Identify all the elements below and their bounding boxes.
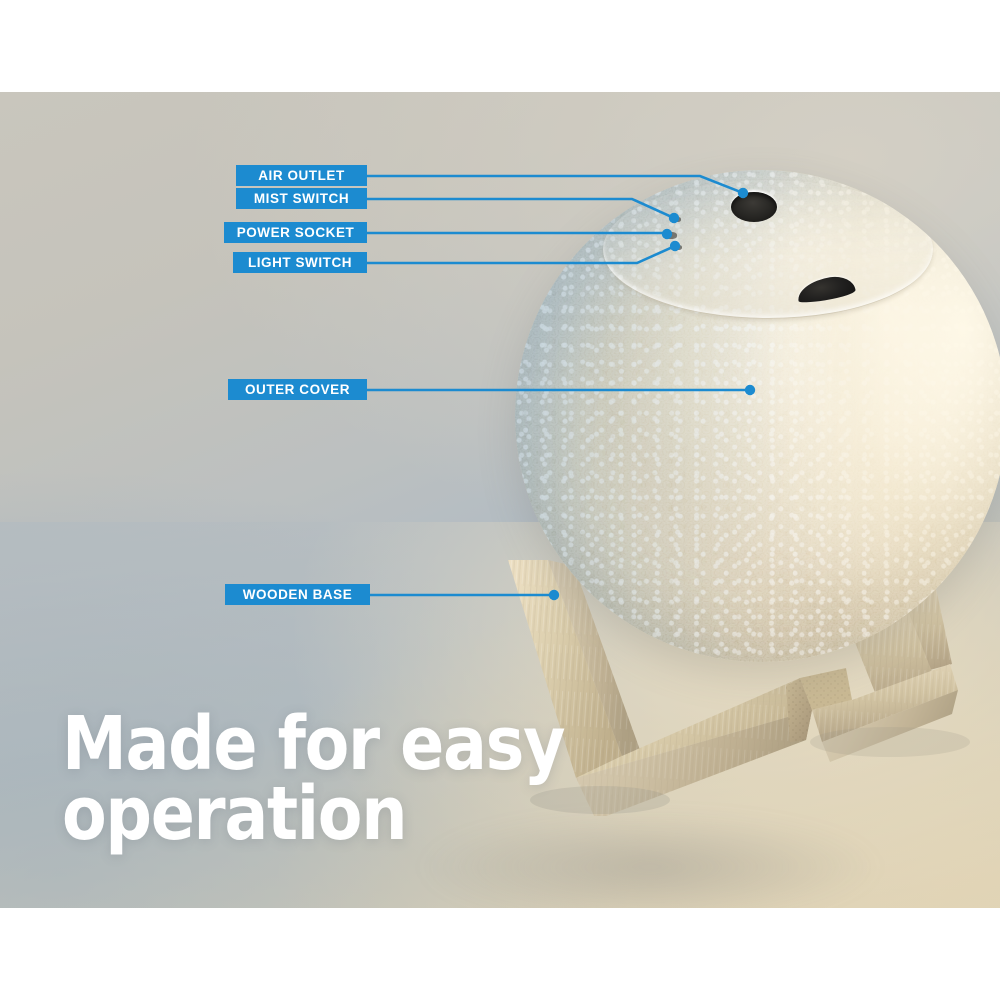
headline-line-2: operation (62, 779, 564, 849)
leader-dot-light-switch (670, 241, 680, 251)
headline: Made for easy operation (62, 709, 564, 850)
leader-dot-wooden-base (549, 590, 559, 600)
leader-line-light-switch (367, 246, 675, 263)
callout-badge-air-outlet: AIR OUTLET (236, 165, 367, 186)
product-infographic-canvas: AIR OUTLETMIST SWITCHPOWER SOCKETLIGHT S… (0, 0, 1000, 1000)
headline-line-1: Made for easy (62, 709, 564, 779)
callout-badge-light-switch: LIGHT SWITCH (233, 252, 367, 273)
leader-line-air-outlet (367, 176, 743, 193)
callout-badge-wooden-base: WOODEN BASE (225, 584, 370, 605)
leader-dot-air-outlet (738, 188, 748, 198)
leader-dot-outer-cover (745, 385, 755, 395)
leader-dot-power-socket (662, 229, 672, 239)
leader-dot-mist-switch (669, 213, 679, 223)
callout-badge-power-socket: POWER SOCKET (224, 222, 367, 243)
leader-line-mist-switch (367, 199, 674, 218)
callout-badge-outer-cover: OUTER COVER (228, 379, 367, 400)
callout-badge-mist-switch: MIST SWITCH (236, 188, 367, 209)
